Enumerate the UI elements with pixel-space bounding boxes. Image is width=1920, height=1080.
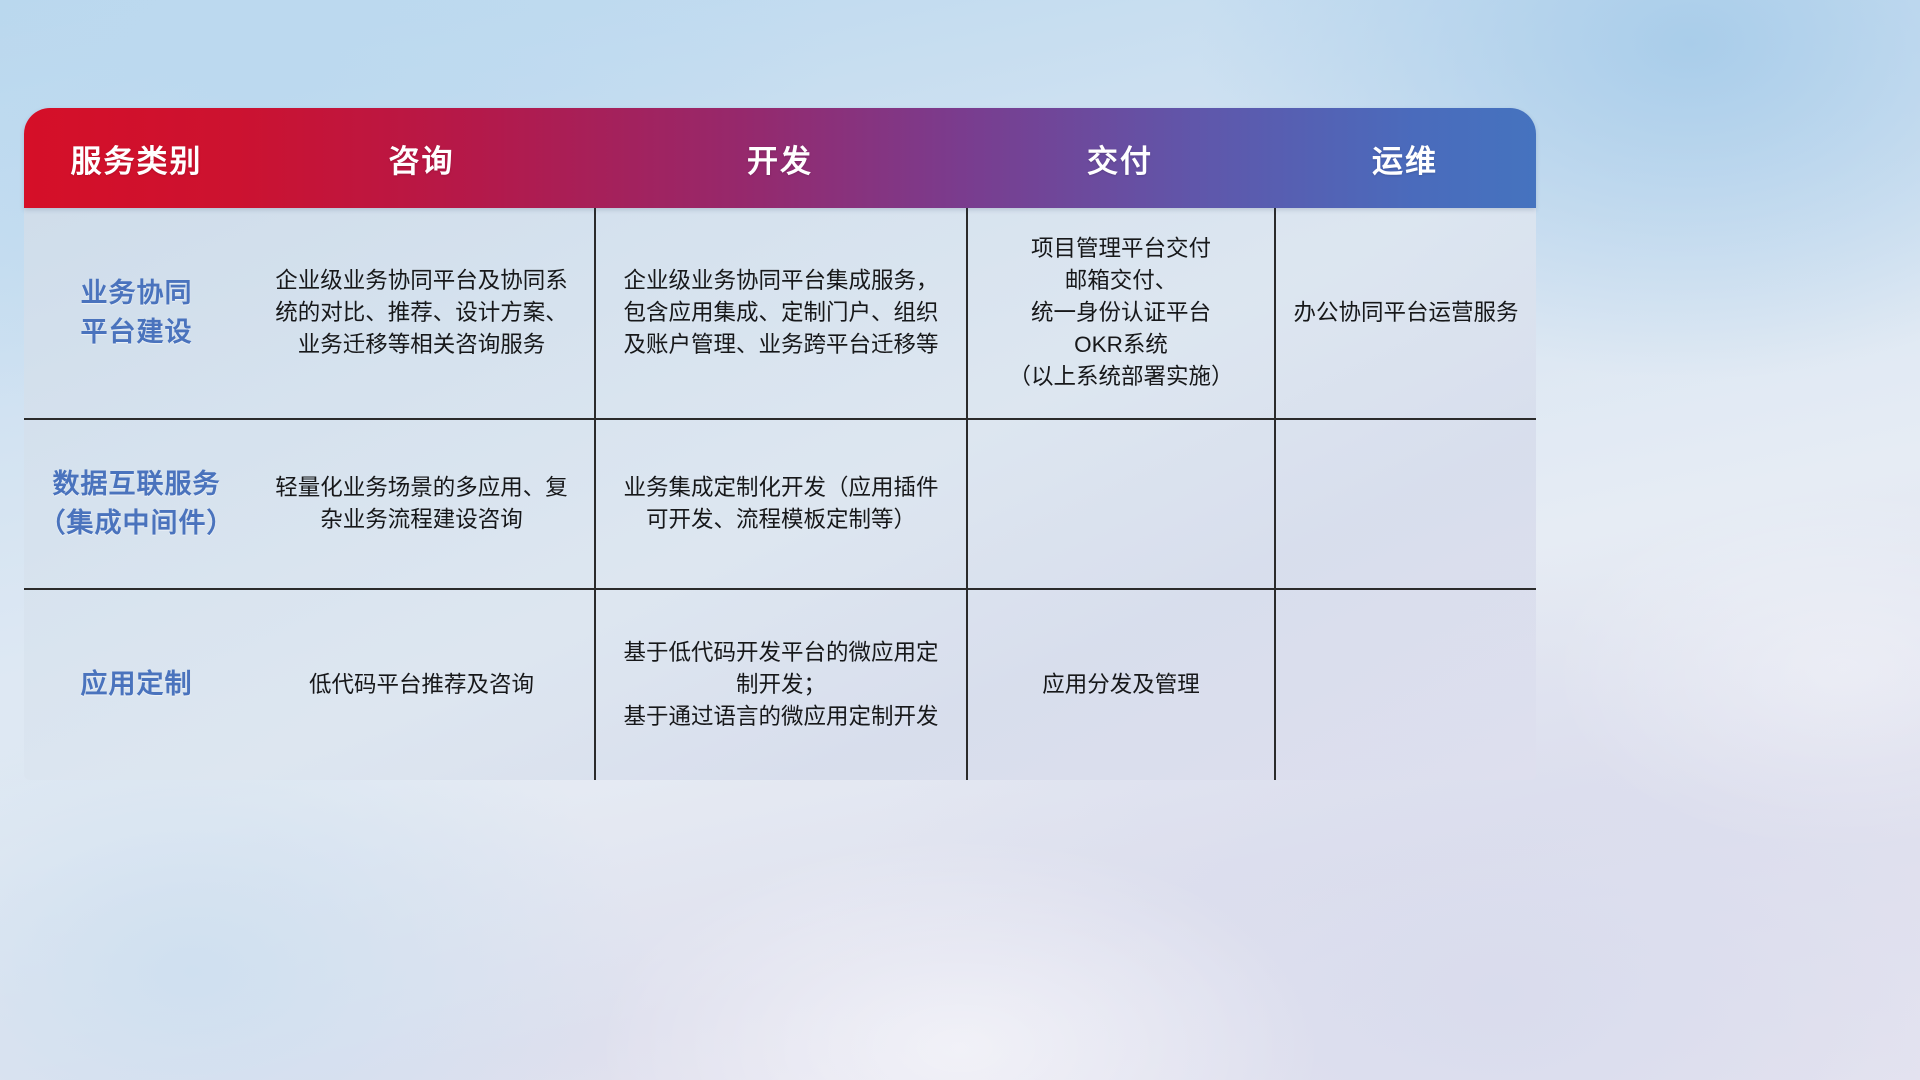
row-category-label: 应用定制 <box>24 590 249 780</box>
row-category-label: 业务协同 平台建设 <box>24 208 249 418</box>
cell-deliver: 应用分发及管理 <box>966 590 1274 780</box>
cell-consult: 低代码平台推荐及咨询 <box>249 590 594 780</box>
cell-operate: 办公协同平台运营服务 <box>1274 208 1536 418</box>
cell-consult: 轻量化业务场景的多应用、复 杂业务流程建设咨询 <box>249 420 594 588</box>
row-category-label: 数据互联服务 （集成中间件） <box>24 420 249 588</box>
cell-develop: 企业级业务协同平台集成服务， 包含应用集成、定制门户、组织 及账户管理、业务跨平… <box>594 208 966 418</box>
table-header-row: 服务类别 咨询 开发 交付 运维 <box>24 108 1536 208</box>
column-header-operate: 运维 <box>1274 108 1536 208</box>
table-row: 应用定制 低代码平台推荐及咨询 基于低代码开发平台的微应用定 制开发； 基于通过… <box>24 590 1536 780</box>
table-row: 业务协同 平台建设 企业级业务协同平台及协同系 统的对比、推荐、设计方案、 业务… <box>24 208 1536 420</box>
service-matrix-table: 服务类别 咨询 开发 交付 运维 业务协同 平台建设 企业级业务协同平台及协同系… <box>24 108 1536 780</box>
column-header-develop: 开发 <box>594 108 966 208</box>
cell-operate <box>1274 590 1536 780</box>
table-body: 业务协同 平台建设 企业级业务协同平台及协同系 统的对比、推荐、设计方案、 业务… <box>24 208 1536 780</box>
cell-deliver: 项目管理平台交付 邮箱交付、 统一身份认证平台 OKR系统 （以上系统部署实施） <box>966 208 1274 418</box>
column-header-deliver: 交付 <box>966 108 1274 208</box>
cell-develop: 业务集成定制化开发（应用插件 可开发、流程模板定制等） <box>594 420 966 588</box>
table-row: 数据互联服务 （集成中间件） 轻量化业务场景的多应用、复 杂业务流程建设咨询 业… <box>24 420 1536 590</box>
cell-develop: 基于低代码开发平台的微应用定 制开发； 基于通过语言的微应用定制开发 <box>594 590 966 780</box>
column-header-category: 服务类别 <box>24 108 249 208</box>
cell-operate <box>1274 420 1536 588</box>
cell-consult: 企业级业务协同平台及协同系 统的对比、推荐、设计方案、 业务迁移等相关咨询服务 <box>249 208 594 418</box>
cell-deliver <box>966 420 1274 588</box>
column-header-consult: 咨询 <box>249 108 594 208</box>
